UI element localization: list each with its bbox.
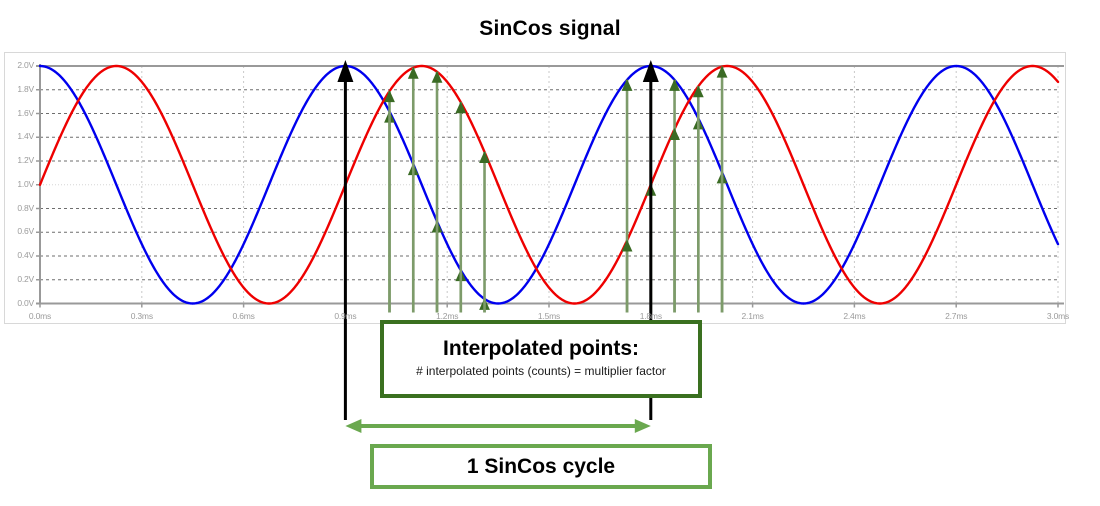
plot-frame: [4, 52, 1066, 324]
y-axis-tick-label: 0.0V: [0, 298, 34, 308]
y-axis-tick-label: 0.2V: [0, 274, 34, 284]
x-axis-tick-label: 2.7ms: [933, 311, 979, 321]
interpolated-points-callout: Interpolated points: # interpolated poin…: [380, 320, 702, 398]
x-axis-tick-label: 0.9ms: [322, 311, 368, 321]
y-axis-tick-label: 1.0V: [0, 179, 34, 189]
x-axis-tick-label: 2.4ms: [831, 311, 877, 321]
cycle-span-arrowhead-right: [635, 419, 651, 433]
interpolated-points-subtext: # interpolated points (counts) = multipl…: [416, 364, 666, 378]
y-axis-tick-label: 1.4V: [0, 131, 34, 141]
x-axis-tick-label: 2.1ms: [730, 311, 776, 321]
cycle-span-arrowhead-left: [345, 419, 361, 433]
x-axis-tick-label: 0.0ms: [17, 311, 63, 321]
x-axis-tick-label: 0.6ms: [221, 311, 267, 321]
y-axis-tick-label: 2.0V: [0, 60, 34, 70]
y-axis-tick-label: 1.8V: [0, 84, 34, 94]
page-title: SinCos signal: [0, 17, 1100, 41]
y-axis-tick-label: 0.4V: [0, 250, 34, 260]
y-axis-tick-label: 0.6V: [0, 226, 34, 236]
x-axis-tick-label: 1.5ms: [526, 311, 572, 321]
x-axis-tick-label: 3.0ms: [1035, 311, 1081, 321]
x-axis-tick-label: 1.8ms: [628, 311, 674, 321]
y-axis-tick-label: 0.8V: [0, 203, 34, 213]
sincos-cycle-callout: 1 SinCos cycle: [370, 444, 712, 489]
sincos-cycle-label: 1 SinCos cycle: [467, 455, 615, 479]
x-axis-tick-label: 1.2ms: [424, 311, 470, 321]
interpolated-points-heading: Interpolated points:: [443, 338, 639, 360]
figure-root: SinCos signal 0.0V0.2V0.4V0.6V0.8V1.0V1.…: [0, 0, 1100, 506]
y-axis-tick-label: 1.2V: [0, 155, 34, 165]
x-axis-tick-label: 0.3ms: [119, 311, 165, 321]
y-axis-tick-label: 1.6V: [0, 108, 34, 118]
